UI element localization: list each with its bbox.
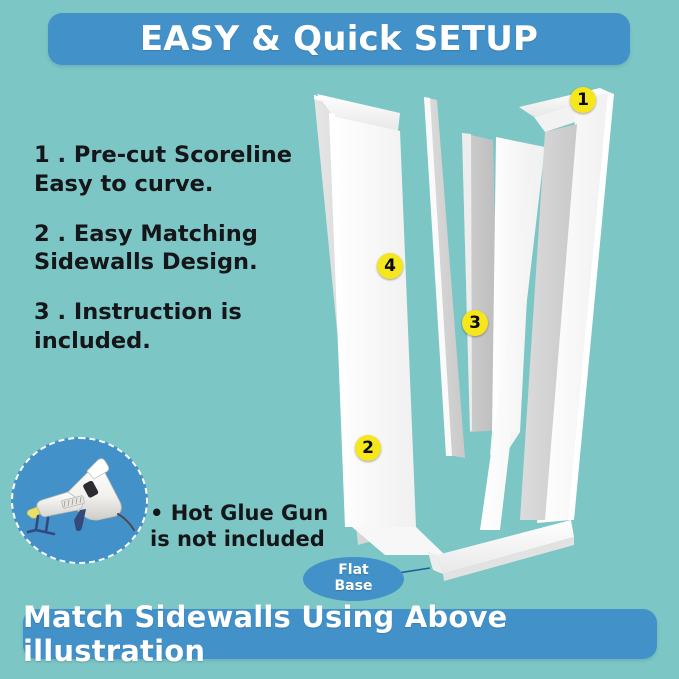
glue-note-line1: • Hot Glue Gun [150,500,350,526]
panel-right-column [519,88,614,523]
panel-main-body [352,145,545,555]
top-banner-text: EASY & Quick SETUP [140,19,538,59]
feature-item-2: 2 . Easy Matching Sidewalls Design. [34,220,334,278]
glue-gun-note: • Hot Glue Gun is not included [150,500,350,553]
feature-list: 1 . Pre-cut Scoreline Easy to curve. 2 .… [34,141,334,356]
badge-2-label: 2 [362,438,374,458]
panel-center-wedge [462,133,500,432]
badge-1-label: 1 [577,90,589,110]
feature-1-line2: Easy to curve. [34,170,334,199]
feature-1-line1: 1 . Pre-cut Scoreline [34,141,334,170]
callout-badge-4: 4 [377,253,403,279]
badge-3-label: 3 [469,313,481,333]
callout-badge-1: 1 [570,87,596,113]
panel-center-left-blade [424,97,465,458]
feature-item-3: 3 . Instruction is included. [34,298,334,356]
badge-4-label: 4 [384,256,396,276]
glue-gun-badge-circle [11,437,148,564]
top-banner: EASY & Quick SETUP [48,13,630,65]
bottom-banner: Match Sidewalls Using Above illustration [23,609,657,659]
panel-center-right-face [490,137,535,455]
feature-3-line1: 3 . Instruction is [34,298,334,327]
callout-badge-2: 2 [355,435,381,461]
callout-badge-3: 3 [462,310,488,336]
feature-2-line1: 2 . Easy Matching [34,220,334,249]
hot-glue-gun-icon [24,458,136,544]
flat-base-line2: Base [335,579,373,595]
flat-base-line1: Flat [338,563,369,579]
infographic-canvas: EASY & Quick SETUP [0,0,679,679]
feature-item-1: 1 . Pre-cut Scoreline Easy to curve. [34,141,334,199]
flat-base-callout: Flat Base [303,557,404,601]
feature-2-line2: Sidewalls Design. [34,248,334,277]
panel-flat-base [428,520,574,581]
glue-note-line2: is not included [150,526,350,552]
bottom-banner-text: Match Sidewalls Using Above illustration [23,600,657,668]
feature-3-line2: included. [34,327,334,356]
